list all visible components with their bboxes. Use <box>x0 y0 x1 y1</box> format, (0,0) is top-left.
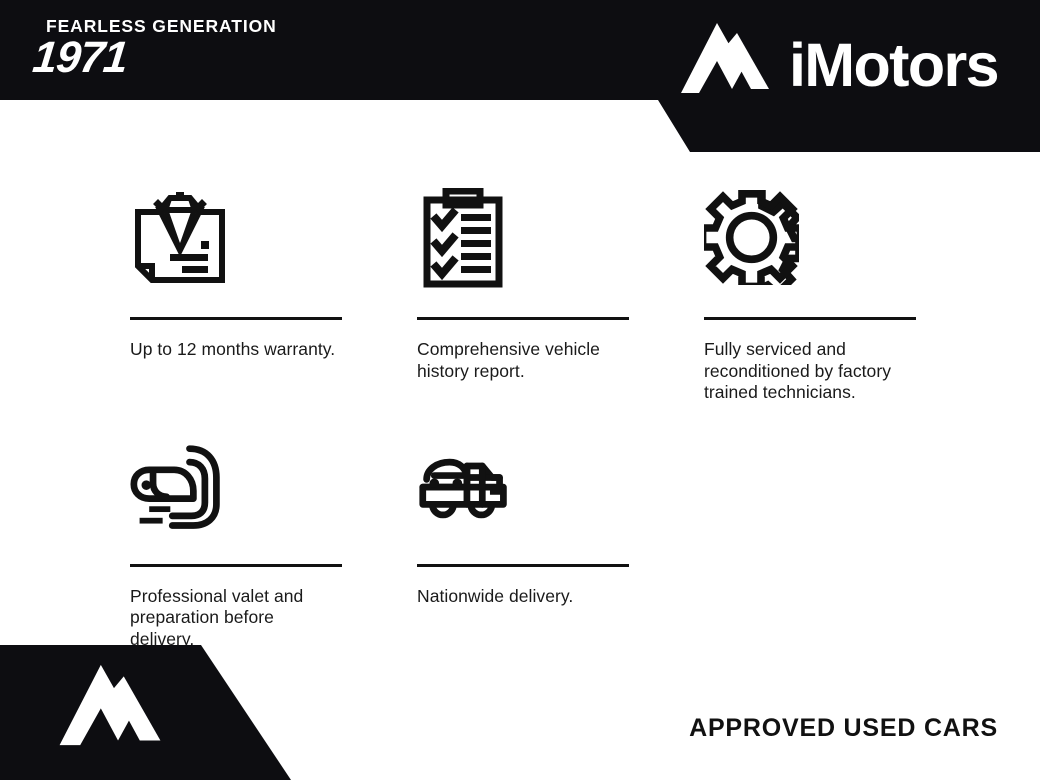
clipboard-checklist-icon <box>417 185 629 290</box>
feature-card-delivery: Nationwide delivery. <box>417 441 629 651</box>
vacuum-cleaner-icon <box>130 441 342 537</box>
feature-text: Comprehensive vehicle history report. <box>417 339 629 382</box>
footer-title: APPROVED USED CARS <box>689 714 998 743</box>
features-row-2: Professional valet and preparation befor… <box>130 441 920 651</box>
features-grid: Up to 12 months warranty. <box>130 185 920 650</box>
feature-card-warranty: Up to 12 months warranty. <box>130 185 342 404</box>
feature-divider <box>130 317 342 320</box>
brand-logo[interactable]: iMotors <box>677 17 998 113</box>
feature-card-valet: Professional valet and preparation befor… <box>130 441 342 651</box>
gear-icon <box>704 185 916 290</box>
imotors-chevron-mark-icon <box>677 17 773 113</box>
feature-text: Up to 12 months warranty. <box>130 339 342 361</box>
warranty-certificate-icon <box>130 185 342 290</box>
feature-divider <box>130 564 342 567</box>
header-year-logo: 1971 <box>31 36 130 80</box>
feature-card-history-report: Comprehensive vehicle history report. <box>417 185 629 404</box>
promo-page: FEARLESS GENERATION 1971 iMotors <box>0 0 1040 780</box>
footer-imotors-chevron-mark-icon <box>55 658 165 768</box>
car-transporter-truck-icon <box>417 441 629 537</box>
feature-text: Professional valet and preparation befor… <box>130 586 342 651</box>
feature-text: Fully serviced and reconditioned by fact… <box>704 339 916 404</box>
feature-divider <box>417 564 629 567</box>
features-row-1: Up to 12 months warranty. <box>130 185 920 404</box>
feature-card-servicing: Fully serviced and reconditioned by fact… <box>704 185 916 404</box>
feature-divider <box>417 317 629 320</box>
feature-text: Nationwide delivery. <box>417 586 629 608</box>
brand-logo-text: iMotors <box>789 35 998 96</box>
feature-divider <box>704 317 916 320</box>
